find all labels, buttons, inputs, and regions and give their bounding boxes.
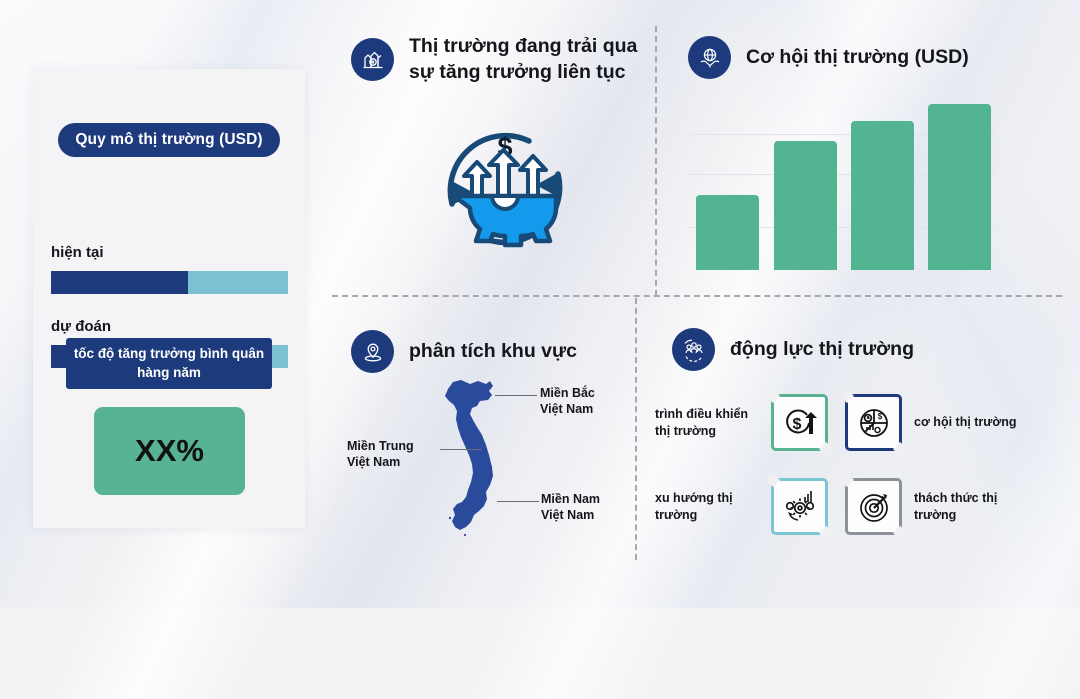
- cagr-label-box: tốc độ tăng trưởng bình quân hàng năm: [66, 338, 272, 389]
- driver-label: thách thức thị trường: [914, 490, 1018, 524]
- svg-text:$: $: [877, 412, 882, 421]
- map-label-south: Miền Nam Việt Nam: [541, 491, 600, 524]
- chart-bar: [928, 104, 991, 270]
- map-label-north: Miền Bắc Việt Nam: [540, 385, 595, 418]
- gears-trend-icon-tile[interactable]: [771, 478, 828, 535]
- metric-label-forecast: dự đoán: [51, 318, 111, 335]
- section-title-region: phân tích khu vực: [409, 339, 577, 365]
- target-dart-icon-tile[interactable]: [845, 478, 902, 535]
- section-title-opportunity: Cơ hội thị trường (USD): [746, 45, 969, 71]
- pie-chart-icon-tile[interactable]: $: [845, 394, 902, 451]
- market-size-pill-label: Quy mô thị trường (USD): [58, 123, 280, 157]
- section-header-opportunity: Cơ hội thị trường (USD): [688, 36, 969, 79]
- svg-text:$: $: [792, 416, 801, 433]
- chart-bar: [774, 141, 837, 271]
- people-cycle-icon: [672, 328, 715, 371]
- section-header-region: phân tích khu vực: [351, 330, 577, 373]
- factory-gears-icon: [351, 38, 394, 81]
- cagr-value-box: XX%: [94, 407, 245, 495]
- driver-label: cơ hội thị trường: [914, 414, 1018, 431]
- market-size-card: Quy mô thị trường (USD) hiện tại dự đoán…: [33, 69, 305, 528]
- leader-line-north: [495, 395, 537, 396]
- vietnam-map: [430, 375, 520, 543]
- driver-item-market-trends[interactable]: xu hướng thị trường: [655, 478, 828, 535]
- map-label-central: Miền Trung Việt Nam: [347, 438, 414, 471]
- section-header-growth: Thị trường đang trải qua sự tăng trưởng …: [351, 34, 659, 85]
- market-drivers-grid: trình điều khiển thị trường $ $ cơ hội t…: [655, 392, 1075, 552]
- driver-item-market-challenges[interactable]: thách thức thị trường: [845, 478, 1018, 535]
- globe-hands-icon: [688, 36, 731, 79]
- divider-vertical-bottom: [635, 298, 637, 560]
- driver-item-market-drivers[interactable]: trình điều khiển thị trường $: [655, 394, 828, 451]
- map-pin-icon: [351, 330, 394, 373]
- region-map-container: Miền Bắc Việt Nam Miền Trung Việt Nam Mi…: [345, 373, 635, 548]
- metric-label-current: hiện tại: [51, 244, 104, 261]
- driver-item-market-opportunity[interactable]: $ cơ hội thị trường: [845, 394, 1018, 451]
- leader-line-central: [440, 449, 482, 450]
- dollar-up-arrow-icon-tile[interactable]: $: [771, 394, 828, 451]
- progress-bar-current: [51, 271, 288, 294]
- gear-growth-arrows-icon: $: [424, 108, 586, 270]
- driver-label: xu hướng thị trường: [655, 490, 759, 524]
- opportunity-bar-chart: [690, 95, 1010, 270]
- section-title-drivers: động lực thị trường: [730, 337, 914, 363]
- divider-horizontal: [332, 295, 1062, 297]
- driver-label: trình điều khiển thị trường: [655, 406, 759, 440]
- progress-fill-current: [51, 271, 188, 294]
- section-header-drivers: động lực thị trường: [672, 328, 914, 371]
- leader-line-south: [497, 501, 539, 502]
- chart-bar: [696, 195, 759, 270]
- chart-bar: [851, 121, 914, 270]
- section-title-growth: Thị trường đang trải qua sự tăng trưởng …: [409, 34, 659, 85]
